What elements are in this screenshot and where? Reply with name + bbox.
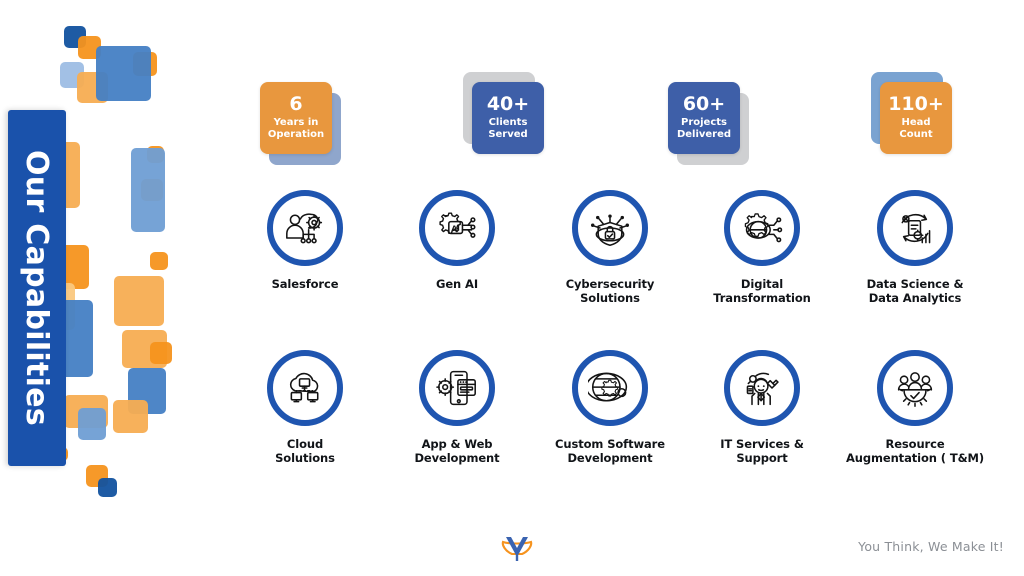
capability-grid: Salesforce AI Gen AI CybersecuritySoluti… <box>240 190 1024 510</box>
capability-item-cloud-network[interactable]: CloudSolutions <box>230 350 380 466</box>
stat-number: 40+ <box>487 94 529 115</box>
capability-label-line1: App & Web <box>382 437 532 451</box>
stat-caption-line2: Operation <box>268 129 324 141</box>
capability-label-line1: Data Science & <box>840 277 990 291</box>
capability-item-gen-ai-chip-gear[interactable]: AI Gen AI <box>382 190 532 291</box>
mosaic-tile <box>150 342 172 364</box>
capability-label-line2: Development <box>382 451 532 465</box>
capability-label: ResourceAugmentation ( T&M) <box>840 437 990 466</box>
stat-card-face: 60+ProjectsDelivered <box>668 82 740 154</box>
page-title: Our Capabilities <box>20 150 55 426</box>
section-title-banner: Our Capabilities <box>8 110 66 466</box>
salesforce-crm-icon[interactable] <box>267 190 343 266</box>
company-v-logo <box>499 531 535 563</box>
stat-caption-line1: Head <box>899 117 932 129</box>
capability-label-line2: Data Analytics <box>840 291 990 305</box>
stat-caption: ProjectsDelivered <box>677 117 731 141</box>
capability-label: Gen AI <box>382 277 532 291</box>
stat-card: 60+ProjectsDelivered <box>668 82 742 156</box>
capability-item-data-science-analytics[interactable]: Data Science &Data Analytics <box>840 190 990 306</box>
mosaic-tile <box>114 276 164 326</box>
stat-card: 40+ClientsServed <box>472 82 546 156</box>
capability-label: DigitalTransformation <box>687 277 837 306</box>
capability-label-line1: Salesforce <box>230 277 380 291</box>
stats-row: 6Years inOperation40+ClientsServed60+Pro… <box>240 70 1024 180</box>
capability-label: Data Science &Data Analytics <box>840 277 990 306</box>
digital-transformation-globe-gear-icon[interactable] <box>724 190 800 266</box>
capability-label: IT Services &Support <box>687 437 837 466</box>
capability-label-line2: Solutions <box>230 451 380 465</box>
capability-label-line2: Development <box>535 451 685 465</box>
capability-label-line1: Cloud <box>230 437 380 451</box>
custom-software-globe-gear-icon[interactable] <box>572 350 648 426</box>
capability-label: CybersecuritySolutions <box>535 277 685 306</box>
capability-label-line2: Support <box>687 451 837 465</box>
mosaic-tile <box>96 46 151 101</box>
it-services-support-icon[interactable] <box>724 350 800 426</box>
mosaic-tile <box>150 252 168 270</box>
capability-item-digital-transformation-globe-gear[interactable]: DigitalTransformation <box>687 190 837 306</box>
cybersecurity-shield-lock-icon[interactable] <box>572 190 648 266</box>
resource-augmentation-team-icon[interactable] <box>877 350 953 426</box>
slide-root: Our Capabilities 6Years inOperation40+Cl… <box>0 0 1024 576</box>
capability-item-app-web-development[interactable]: App & WebDevelopment <box>382 350 532 466</box>
mosaic-tile <box>131 148 165 232</box>
mosaic-panel: Our Capabilities <box>0 0 220 576</box>
capability-label-line1: Cybersecurity <box>535 277 685 291</box>
svg-text:AI: AI <box>451 223 460 232</box>
gen-ai-chip-gear-icon[interactable]: AI <box>419 190 495 266</box>
capability-item-custom-software-globe-gear[interactable]: Custom SoftwareDevelopment <box>535 350 685 466</box>
capability-item-it-services-support[interactable]: IT Services &Support <box>687 350 837 466</box>
stat-caption-line1: Years in <box>268 117 324 129</box>
capability-label: Custom SoftwareDevelopment <box>535 437 685 466</box>
app-web-development-icon[interactable] <box>419 350 495 426</box>
capability-label-line1: Gen AI <box>382 277 532 291</box>
capability-label-line1: Digital <box>687 277 837 291</box>
capability-label-line1: Resource <box>840 437 990 451</box>
stat-number: 6 <box>289 94 302 115</box>
capability-label: App & WebDevelopment <box>382 437 532 466</box>
mosaic-tile <box>98 478 117 497</box>
footer-tagline: You Think, We Make It! <box>858 539 1004 554</box>
stat-card-face: 40+ClientsServed <box>472 82 544 154</box>
capability-item-resource-augmentation-team[interactable]: ResourceAugmentation ( T&M) <box>840 350 990 466</box>
stat-number: 60+ <box>683 94 725 115</box>
stat-caption: ClientsServed <box>488 117 527 141</box>
mosaic-tile <box>113 400 148 433</box>
stat-card-face: 110+HeadCount <box>880 82 952 154</box>
capability-item-cybersecurity-shield-lock[interactable]: CybersecuritySolutions <box>535 190 685 306</box>
capability-label: CloudSolutions <box>230 437 380 466</box>
stat-caption-line1: Projects <box>677 117 731 129</box>
stat-card: 6Years inOperation <box>260 82 334 156</box>
capability-label-line2: Transformation <box>687 291 837 305</box>
capability-label: Salesforce <box>230 277 380 291</box>
mosaic-tile <box>78 408 106 440</box>
stat-caption: HeadCount <box>899 117 932 141</box>
capability-item-salesforce-crm[interactable]: Salesforce <box>230 190 380 291</box>
capability-label-line1: IT Services & <box>687 437 837 451</box>
stat-caption: Years inOperation <box>268 117 324 141</box>
stat-caption-line2: Delivered <box>677 129 731 141</box>
stat-caption-line2: Count <box>899 129 932 141</box>
capability-label-line1: Custom Software <box>535 437 685 451</box>
data-science-analytics-icon[interactable] <box>877 190 953 266</box>
stat-caption-line1: Clients <box>488 117 527 129</box>
stat-caption-line2: Served <box>488 129 527 141</box>
stat-card-face: 6Years inOperation <box>260 82 332 154</box>
capability-label-line2: Augmentation ( T&M) <box>840 451 990 465</box>
capability-label-line2: Solutions <box>535 291 685 305</box>
stat-number: 110+ <box>888 94 944 115</box>
cloud-network-icon[interactable] <box>267 350 343 426</box>
stat-card: 110+HeadCount <box>880 82 954 156</box>
